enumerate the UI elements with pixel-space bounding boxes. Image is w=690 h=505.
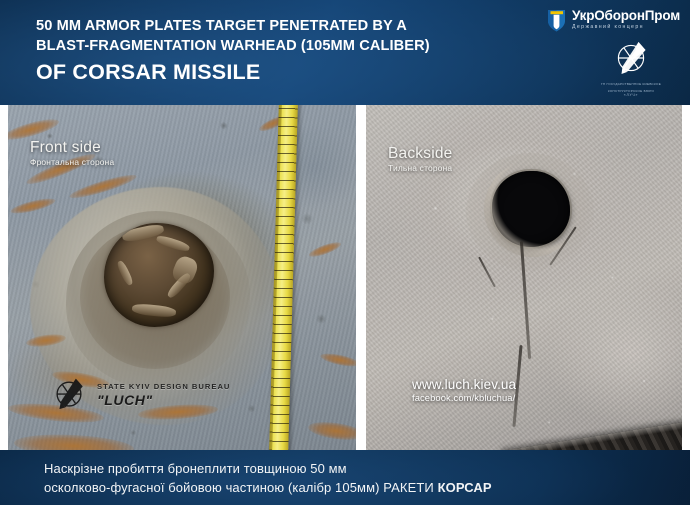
metal-petal [116, 260, 135, 287]
footer-caption: Наскрізне пробиття бронеплити товщиною 5… [44, 459, 492, 497]
photo-stage: Front side Фронтальна сторона STATE KYIV… [0, 105, 690, 450]
brand-name: УкрОборонПром [572, 9, 680, 23]
footer-line-2: осколково-фугасної бойовою частиною (кал… [44, 478, 492, 497]
title-line-2: BLAST-FRAGMENTATION WARHEAD (105MM CALIB… [36, 37, 506, 57]
luch-arrow-emblem-icon [48, 375, 90, 415]
slide-footer: Наскрізне пробиття бронеплити товщиною 5… [0, 450, 690, 505]
emblem-caption-1: ГП ГОСУДАРСТВЕННОЕ КИЕВСКОЕ [600, 82, 662, 87]
footer-line-1: Наскрізне пробиття бронеплити товщиною 5… [44, 459, 492, 478]
luch-arrow-emblem-icon [608, 38, 654, 80]
title-line-3: OF CORSAR MISSILE [36, 59, 506, 86]
metal-petal [170, 254, 200, 286]
penetration-hole-back [492, 171, 570, 247]
watermark-line-1: STATE KYIV DESIGN BUREAU [97, 383, 230, 391]
watermark-line-2: "LUCH" [97, 393, 230, 407]
website-url[interactable]: www.luch.kiev.ua [412, 377, 516, 393]
footer-line-2-bold: КОРСАР [438, 480, 492, 495]
luch-watermark: STATE KYIV DESIGN BUREAU "LUCH" [48, 375, 230, 415]
title-line-1: 50 MM ARMOR PLATES TARGET PENETRATED BY … [36, 17, 506, 37]
ukroboronprom-text: УкрОборонПром Державний концерн [572, 9, 680, 30]
brand-subtitle: Державний концерн [572, 25, 680, 30]
emblem-caption-3: «ЛУЧ» [600, 93, 662, 98]
luch-bureau-emblem: ГП ГОСУДАРСТВЕННОЕ КИЕВСКОЕ КОНСТРУКТОРС… [600, 38, 662, 98]
website-credits: www.luch.kiev.ua facebook.com/kbluchua/ [412, 377, 516, 404]
metal-petal [132, 303, 177, 319]
photo-front-side: Front side Фронтальна сторона STATE KYIV… [8, 105, 356, 450]
photo-backside: Backside Тильна сторона www.luch.kiev.ua… [366, 105, 682, 450]
ukroboronprom-logo: УкрОборонПром Державний концерн [547, 8, 680, 32]
watermark-text: STATE KYIV DESIGN BUREAU "LUCH" [97, 383, 230, 407]
facebook-url[interactable]: facebook.com/kbluchua/ [412, 393, 516, 404]
page-title: 50 MM ARMOR PLATES TARGET PENETRATED BY … [36, 17, 506, 86]
presentation-slide: 50 MM ARMOR PLATES TARGET PENETRATED BY … [0, 0, 690, 505]
metal-petal [155, 234, 190, 253]
slide-header: 50 MM ARMOR PLATES TARGET PENETRATED BY … [0, 0, 690, 105]
shield-icon [547, 8, 566, 32]
footer-line-2-prefix: осколково-фугасної бойовою частиною (кал… [44, 480, 438, 495]
